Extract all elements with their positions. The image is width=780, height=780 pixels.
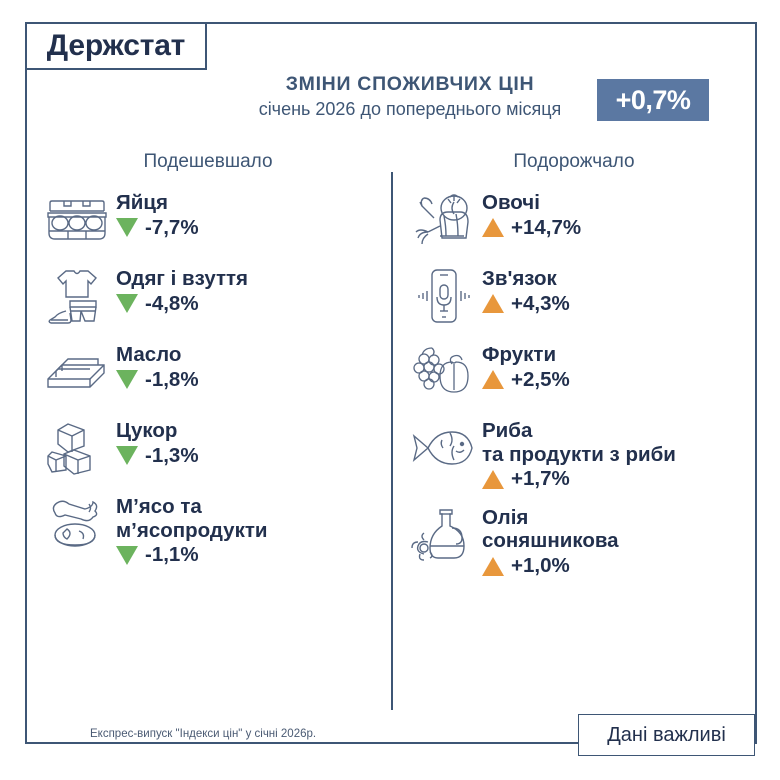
page-subtitle: січень 2026 до попереднього місяця <box>215 97 605 121</box>
column-heading-decreased: Подешевшало <box>38 152 378 171</box>
item-value: +1,0% <box>482 556 744 577</box>
item-label: Яйця <box>116 191 168 214</box>
arrow-up-icon <box>482 470 504 489</box>
fruits-icon <box>404 341 482 403</box>
arrow-down-icon <box>116 546 138 565</box>
list-item-body: Олія соняшникова +1,0% <box>482 504 744 577</box>
item-value: +1,7% <box>482 469 744 490</box>
item-value: +2,5% <box>482 370 744 391</box>
frame-border-right <box>755 22 757 744</box>
item-label: Олія соняшникова <box>482 506 619 553</box>
item-value: -4,8% <box>116 294 378 315</box>
item-percent: -1,3% <box>145 446 199 467</box>
footer-slogan-box: Дані важливі <box>578 714 755 756</box>
item-label: Фрукти <box>482 343 556 366</box>
phone-microphone-icon <box>404 265 482 327</box>
header-block: ЗМІНИ СПОЖИВЧИХ ЦІН січень 2026 до попер… <box>215 72 605 121</box>
list-item-body: Цукор -1,3% <box>116 417 378 466</box>
butter-icon <box>38 341 116 403</box>
meat-icon <box>38 493 116 555</box>
item-label: М’ясо та м’ясопродукти <box>116 495 267 542</box>
item-label: Зв'язок <box>482 267 557 290</box>
list-item-body: Одяг і взуття -4,8% <box>116 265 378 314</box>
sugar-cubes-icon <box>38 417 116 479</box>
list-item-body: Фрукти +2,5% <box>482 341 744 390</box>
list-item: Цукор -1,3% <box>38 417 378 479</box>
clothing-shoes-icon <box>38 265 116 327</box>
list-item: Масло -1,8% <box>38 341 378 403</box>
overall-change-value: +0,7% <box>616 87 691 114</box>
arrow-up-icon <box>482 557 504 576</box>
item-label: Одяг і взуття <box>116 267 248 290</box>
list-item: М’ясо та м’ясопродукти -1,1% <box>38 493 378 566</box>
frame-border-top <box>205 22 757 24</box>
item-percent: +14,7% <box>511 218 581 239</box>
item-label: Масло <box>116 343 181 366</box>
list-item-body: Яйця -7,7% <box>116 189 378 238</box>
item-percent: -1,8% <box>145 370 199 391</box>
item-value: -7,7% <box>116 218 378 239</box>
arrow-up-icon <box>482 218 504 237</box>
item-value: +4,3% <box>482 294 744 315</box>
column-decreased: Подешевшало Яйц <box>38 152 378 580</box>
item-percent: +2,5% <box>511 370 570 391</box>
logo-box: Держстат <box>25 22 207 70</box>
arrow-up-icon <box>482 370 504 389</box>
arrow-up-icon <box>482 294 504 313</box>
list-item-body: Зв'язок +4,3% <box>482 265 744 314</box>
list-item-body: Овочі +14,7% <box>482 189 744 238</box>
overall-change-badge: +0,7% <box>597 79 709 121</box>
list-item: Одяг і взуття -4,8% <box>38 265 378 327</box>
infographic-root: Держстат ЗМІНИ СПОЖИВЧИХ ЦІН січень 2026… <box>0 0 780 780</box>
footer-source-note: Експрес-випуск "Індекси цін" у січні 202… <box>90 729 316 741</box>
list-item: Яйця -7,7% <box>38 189 378 251</box>
column-increased: Подорожчало <box>404 152 744 590</box>
list-item-body: М’ясо та м’ясопродукти -1,1% <box>116 493 378 566</box>
item-label: Цукор <box>116 419 177 442</box>
item-value: -1,8% <box>116 370 378 391</box>
arrow-down-icon <box>116 370 138 389</box>
item-percent: -1,1% <box>145 545 199 566</box>
column-divider <box>391 172 393 710</box>
footer-slogan: Дані важливі <box>607 725 726 745</box>
item-label: Овочі <box>482 191 540 214</box>
vegetables-icon <box>404 189 482 251</box>
item-percent: +4,3% <box>511 294 570 315</box>
fish-icon <box>404 417 482 479</box>
list-item: Фрукти +2,5% <box>404 341 744 403</box>
item-percent: -7,7% <box>145 218 199 239</box>
sunflower-oil-icon <box>404 504 482 566</box>
page-title: ЗМІНИ СПОЖИВЧИХ ЦІН <box>215 72 605 97</box>
egg-carton-icon <box>38 189 116 251</box>
list-item-body: Риба та продукти з риби +1,7% <box>482 417 744 490</box>
list-item-body: Масло -1,8% <box>116 341 378 390</box>
item-percent: -4,8% <box>145 294 199 315</box>
item-percent: +1,7% <box>511 469 570 490</box>
list-item: Овочі +14,7% <box>404 189 744 251</box>
arrow-down-icon <box>116 446 138 465</box>
item-percent: +1,0% <box>511 556 570 577</box>
frame-border-left <box>25 22 27 744</box>
arrow-down-icon <box>116 294 138 313</box>
arrow-down-icon <box>116 218 138 237</box>
list-item: Риба та продукти з риби +1,7% <box>404 417 744 490</box>
column-heading-increased: Подорожчало <box>404 152 744 171</box>
item-value: -1,1% <box>116 545 378 566</box>
item-value: -1,3% <box>116 446 378 467</box>
item-label: Риба та продукти з риби <box>482 419 676 466</box>
item-value: +14,7% <box>482 218 744 239</box>
list-item: Олія соняшникова +1,0% <box>404 504 744 577</box>
list-item: Зв'язок +4,3% <box>404 265 744 327</box>
logo-label: Держстат <box>47 31 185 61</box>
